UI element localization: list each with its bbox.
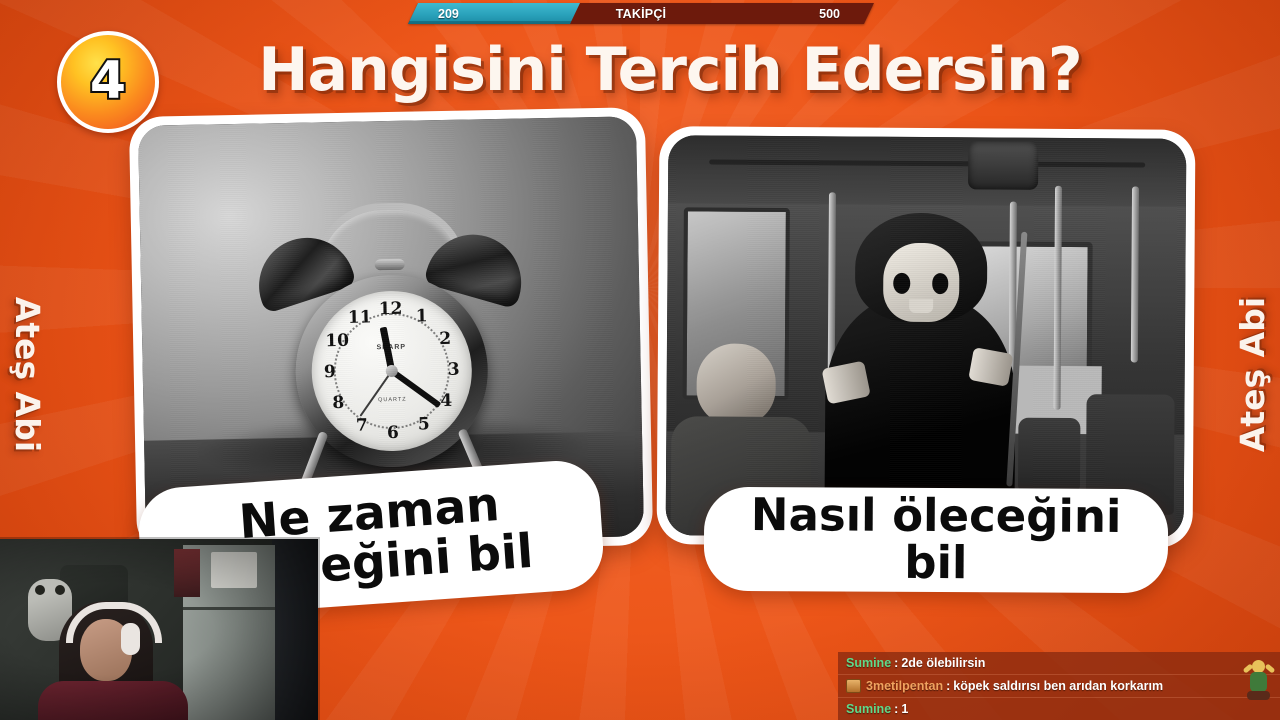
chat-text: köpek saldırısı ben arıdan korkarım: [953, 679, 1163, 693]
chat-separator: :: [894, 656, 898, 670]
reaper-skull: [883, 243, 960, 323]
clock-face: SHARP QUARTZ 12 1 2 3 4 5 6 7: [310, 290, 473, 453]
chat-username[interactable]: Sumine: [846, 656, 891, 670]
chat-separator: :: [894, 702, 898, 716]
reaper-eye-right: [932, 273, 949, 294]
grim-reaper-figure: [837, 212, 1005, 517]
watermark-left: Ateş Abi: [8, 297, 47, 452]
chat-emote-icon: [1244, 658, 1274, 714]
round-number-badge: 4: [57, 31, 159, 133]
stream-scene: 209 TAKİPÇİ 500 4 Hangisini Tercih Eders…: [0, 0, 1280, 720]
reaper-jaw: [909, 299, 933, 313]
option-b-caption[interactable]: Nasıl öleceğini bil: [704, 487, 1169, 593]
bald-man-head: [697, 343, 776, 424]
alarm-clock-icon: SHARP QUARTZ 12 1 2 3 4 5 6 7: [269, 217, 514, 462]
chat-text: 2de ölebilirsin: [901, 656, 985, 670]
clock-movement-label: QUARTZ: [378, 397, 407, 404]
bus-pole-4: [1131, 186, 1139, 362]
bus-vent: [968, 141, 1038, 189]
webcam-vignette: [0, 539, 318, 720]
chat-overlay[interactable]: Sumine : 2de ölebilirsin 3metilpentan : …: [838, 652, 1280, 720]
chat-username[interactable]: 3metilpentan: [866, 679, 943, 693]
chat-username[interactable]: Sumine: [846, 702, 891, 716]
option-b-image: [666, 135, 1187, 539]
webcam-overlay[interactable]: [0, 539, 318, 720]
chat-separator: :: [946, 679, 950, 693]
emote-body: [1250, 672, 1267, 692]
chat-message-row: Sumine : 2de ölebilirsin: [838, 652, 1280, 675]
follower-count-goal: 500: [819, 3, 840, 24]
option-b-card[interactable]: [657, 126, 1196, 548]
page-title: Hangisini Tercih Edersin?: [245, 34, 1095, 106]
emote-arm-right: [1265, 663, 1276, 673]
chat-text: 1: [901, 702, 908, 716]
reaper-bus-photo: [666, 135, 1187, 539]
reaper-eye-left: [894, 273, 911, 294]
round-number-value: 4: [90, 55, 126, 107]
bus-ceiling: [668, 135, 1186, 207]
chat-badge-icon: [846, 679, 861, 693]
chat-message-row: 3metilpentan : köpek saldırısı ben arıda…: [838, 675, 1280, 698]
follower-bar-label: TAKİPÇİ: [408, 3, 874, 24]
chat-message-row: Sumine : 1: [838, 698, 1280, 720]
clock-hammer: [375, 259, 405, 271]
watermark-right: Ateş Abi: [1233, 297, 1272, 452]
emote-legs: [1247, 691, 1270, 700]
follower-progress-bar: 209 TAKİPÇİ 500: [408, 3, 874, 24]
bus-seat-2: [1018, 418, 1081, 490]
